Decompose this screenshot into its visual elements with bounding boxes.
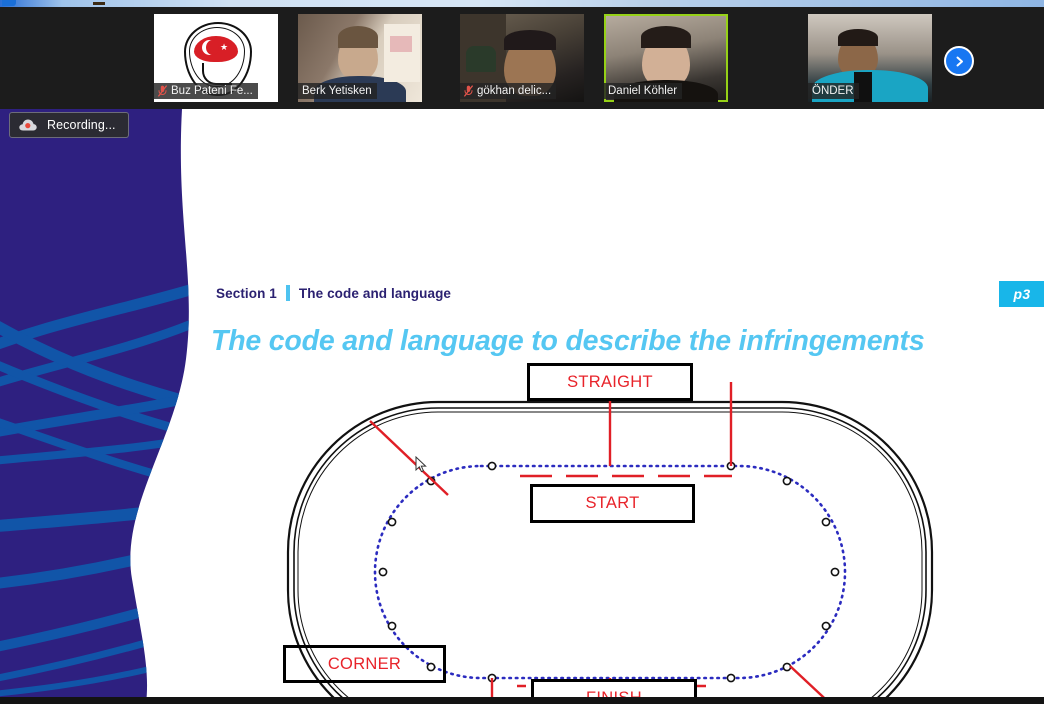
label-corner: CORNER xyxy=(283,645,446,683)
participant-tile-0[interactable]: ★ Buz Pateni Fe... xyxy=(154,14,278,102)
slide-kicker: Section 1 The code and language xyxy=(216,285,451,301)
participant-name-label-2: gökhan delic... xyxy=(460,83,556,99)
video-background-panel xyxy=(384,24,420,82)
label-straight: STRAIGHT xyxy=(527,363,693,401)
video-hair-shape xyxy=(641,26,691,48)
participant-tile-4[interactable]: ÖNDER xyxy=(808,14,932,102)
page-number-badge: p3 xyxy=(999,281,1044,307)
video-plant-shape xyxy=(466,46,496,72)
chevron-right-icon xyxy=(953,55,966,68)
participant-name-text-3: Daniel Köhler xyxy=(608,85,677,97)
participant-name-label-0: Buz Pateni Fe... xyxy=(154,83,258,99)
participant-tile-3[interactable]: Daniel Köhler xyxy=(604,14,728,102)
logo-star-icon: ★ xyxy=(220,43,228,52)
participant-name-label-3: Daniel Köhler xyxy=(604,83,682,99)
video-hair-shape xyxy=(504,30,556,50)
kicker-topic-text: The code and language xyxy=(299,286,451,301)
participant-tile-1[interactable]: Berk Yetisken xyxy=(298,14,422,102)
window-bottom-strip xyxy=(0,697,1044,704)
participant-name-text-0: Buz Pateni Fe... xyxy=(171,85,253,97)
recording-label: Recording... xyxy=(47,118,116,132)
slide-stage: Recording... Section 1 The code and lang… xyxy=(0,109,1044,704)
window-title-strip xyxy=(0,0,1044,7)
app-root: ★ Buz Pateni Fe... Berk Yetisken xyxy=(0,0,1044,704)
slide-sidebar-artwork xyxy=(0,109,200,704)
mic-muted-icon xyxy=(464,85,473,97)
participant-tile-2[interactable]: gökhan delic... xyxy=(460,14,584,102)
window-chrome-mark xyxy=(93,2,105,5)
mic-muted-icon xyxy=(158,85,167,97)
logo-skate-icon xyxy=(202,63,232,85)
kicker-section-text: Section 1 xyxy=(216,286,277,301)
window-chrome-accent xyxy=(2,0,16,6)
participant-name-text-4: ÖNDER xyxy=(812,85,854,97)
participant-name-text-2: gökhan delic... xyxy=(477,85,551,97)
filmstrip-next-button[interactable] xyxy=(944,46,974,76)
participant-name-label-1: Berk Yetisken xyxy=(298,83,377,99)
video-background-poster xyxy=(390,36,412,52)
video-hair-shape xyxy=(838,29,878,46)
participant-name-label-4: ÖNDER xyxy=(808,83,859,99)
logo-crescent-cut xyxy=(206,40,219,55)
mouse-cursor-icon xyxy=(415,456,427,474)
video-hair-shape xyxy=(338,26,378,48)
kicker-divider xyxy=(286,285,290,301)
label-start: START xyxy=(530,484,695,523)
participant-filmstrip: ★ Buz Pateni Fe... Berk Yetisken xyxy=(0,7,1044,109)
recording-indicator[interactable]: Recording... xyxy=(9,112,129,138)
participant-name-text-1: Berk Yetisken xyxy=(302,85,372,97)
cloud-recording-icon xyxy=(18,118,38,132)
